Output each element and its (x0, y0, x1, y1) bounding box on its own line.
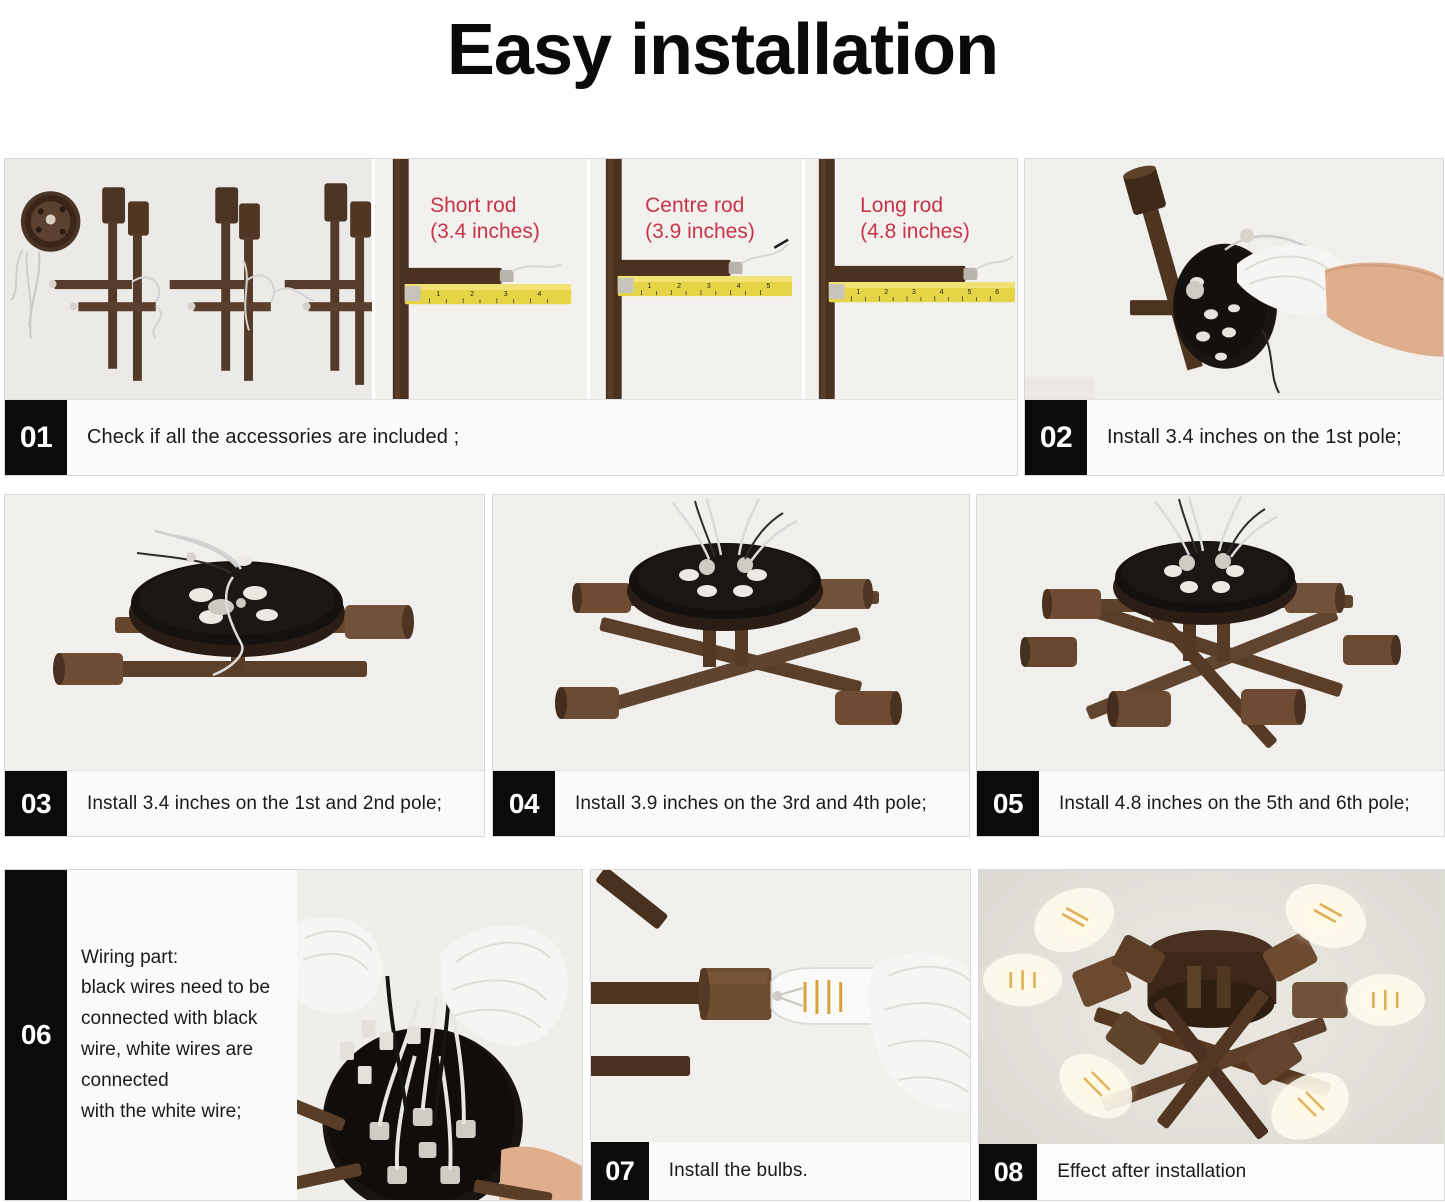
step-text-01: Check if all the accessories are include… (67, 400, 459, 475)
svg-text:5: 5 (967, 289, 971, 296)
svg-text:2: 2 (470, 291, 474, 298)
steps-row-1: 12 34 Short rod (3.4 inches) (0, 158, 1445, 476)
step-card-03[interactable]: 03 Install 3.4 inches on the 1st and 2nd… (4, 494, 485, 837)
svg-text:2: 2 (884, 289, 888, 296)
step-card-01[interactable]: 12 34 Short rod (3.4 inches) (4, 158, 1018, 476)
photo-wiring-connection (297, 870, 582, 1200)
step-text-04: Install 3.9 inches on the 3rd and 4th po… (555, 771, 927, 836)
steps-row-2: 03 Install 3.4 inches on the 1st and 2nd… (0, 494, 1445, 837)
step-text-07: Install the bulbs. (649, 1142, 808, 1200)
step-text-02: Install 3.4 inches on the 1st pole; (1087, 400, 1402, 475)
step-card-02[interactable]: 02 Install 3.4 inches on the 1st pole; (1024, 158, 1444, 476)
step-number-03: 03 (5, 771, 67, 836)
step-04-photo-strip (493, 495, 969, 770)
step-05-caption: 05 Install 4.8 inches on the 5th and 6th… (977, 770, 1444, 836)
step-card-05[interactable]: 05 Install 4.8 inches on the 5th and 6th… (976, 494, 1445, 837)
svg-text:3: 3 (707, 283, 711, 290)
svg-text:2: 2 (677, 283, 681, 290)
step-card-07[interactable]: 07 Install the bulbs. (590, 869, 972, 1201)
step-number-05: 05 (977, 771, 1039, 836)
step-card-04[interactable]: 04 Install 3.9 inches on the 3rd and 4th… (492, 494, 970, 837)
step-card-08[interactable]: 08 Effect after installation (978, 869, 1445, 1201)
photo-parts-layout (5, 159, 375, 399)
wiring-line-6: with the white wire; (81, 1097, 285, 1128)
svg-text:4: 4 (537, 291, 541, 298)
wiring-line-4: wire, white wires are (81, 1035, 285, 1066)
steps-row-3: 06 Wiring part: black wires need to be c… (0, 869, 1445, 1201)
step-text-06: Wiring part: black wires need to be conn… (67, 870, 297, 1200)
step-text-08: Effect after installation (1037, 1144, 1246, 1200)
svg-text:1: 1 (436, 291, 440, 298)
step-text-03: Install 3.4 inches on the 1st and 2nd po… (67, 771, 442, 836)
step-02-photo-strip (1025, 159, 1443, 399)
svg-text:6: 6 (995, 289, 999, 296)
photo-centre-rod-measure: 12 345 Centre rod (3.9 inches) (590, 159, 805, 399)
svg-text:1: 1 (857, 289, 861, 296)
step-03-caption: 03 Install 3.4 inches on the 1st and 2nd… (5, 770, 484, 836)
step-01-photo-strip: 12 34 Short rod (3.4 inches) (5, 159, 1017, 399)
photo-long-rod-measure: 12 34 56 Long rod (805, 159, 1017, 399)
svg-text:3: 3 (504, 291, 508, 298)
page-title: Easy installation (447, 14, 998, 86)
svg-text:1: 1 (647, 283, 651, 290)
svg-text:3: 3 (912, 289, 916, 296)
page-header: Easy installation (0, 0, 1445, 100)
wiring-line-1: Wiring part: (81, 943, 285, 974)
step-01-caption: 01 Check if all the accessories are incl… (5, 399, 1017, 475)
wiring-line-2: black wires need to be (81, 973, 285, 1004)
photo-four-rods-installed (493, 495, 969, 770)
svg-text:4: 4 (737, 283, 741, 290)
step-02-caption: 02 Install 3.4 inches on the 1st pole; (1025, 399, 1443, 475)
step-card-06[interactable]: 06 Wiring part: black wires need to be c… (4, 869, 583, 1201)
step-04-caption: 04 Install 3.9 inches on the 3rd and 4th… (493, 770, 969, 836)
step-number-08: 08 (979, 1144, 1037, 1200)
step-number-04: 04 (493, 771, 555, 836)
wiring-line-3: connected with black (81, 1004, 285, 1035)
step-number-07: 07 (591, 1142, 649, 1200)
wiring-line-5: connected (81, 1066, 285, 1097)
step-03-photo-strip (5, 495, 484, 770)
photo-install-first-pole (1025, 159, 1443, 399)
photo-two-rods-installed (5, 495, 484, 770)
step-number-01: 01 (5, 400, 67, 475)
photo-short-rod-measure: 12 34 Short rod (3.4 inches) (375, 159, 590, 399)
svg-text:4: 4 (940, 289, 944, 296)
step-07-caption: 07 Install the bulbs. (591, 1142, 971, 1200)
step-05-photo-strip (977, 495, 1444, 770)
step-number-06: 06 (5, 870, 67, 1200)
step-text-05: Install 4.8 inches on the 5th and 6th po… (1039, 771, 1410, 836)
step-number-02: 02 (1025, 400, 1087, 475)
svg-text:5: 5 (766, 283, 770, 290)
step-08-caption: 08 Effect after installation (979, 1144, 1444, 1200)
photo-six-rods-installed (977, 495, 1444, 770)
